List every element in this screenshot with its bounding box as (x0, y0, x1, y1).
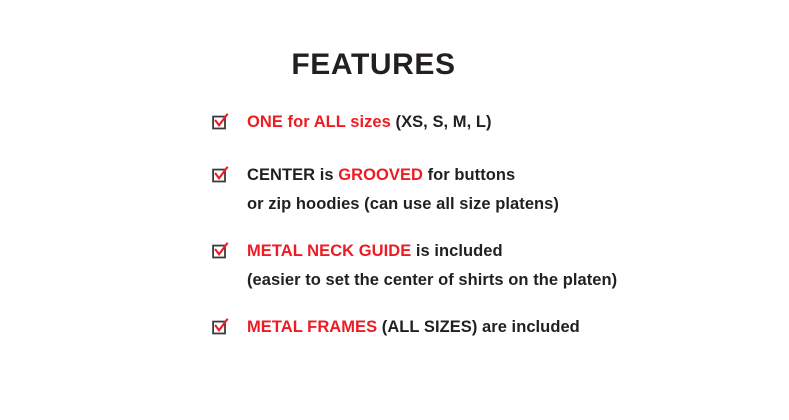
feature-text: CENTER is GROOVED for buttonsor zip hood… (247, 163, 770, 217)
feature-line: METAL NECK GUIDE is included (247, 239, 770, 264)
checked-checkbox-icon (212, 113, 229, 130)
checked-checkbox-icon (212, 166, 229, 183)
page-title: FEATURES (0, 50, 747, 80)
feature-bullet (210, 110, 247, 132)
feature-text-segment: (easier to set the center of shirts on t… (247, 271, 617, 289)
feature-item: METAL NECK GUIDE is included(easier to s… (210, 239, 770, 293)
feature-text-segment: METAL FRAMES (247, 318, 377, 336)
features-panel: FEATURES ONE for ALL sizes (XS, S, M, L)… (0, 0, 789, 420)
feature-line: (easier to set the center of shirts on t… (247, 268, 770, 293)
feature-bullet (210, 315, 247, 337)
feature-line: or zip hoodies (can use all size platens… (247, 192, 770, 217)
feature-line: ONE for ALL sizes (XS, S, M, L) (247, 110, 770, 135)
features-list: ONE for ALL sizes (XS, S, M, L)CENTER is… (210, 110, 770, 368)
feature-bullet (210, 239, 247, 261)
feature-text: METAL NECK GUIDE is included(easier to s… (247, 239, 770, 293)
feature-text-segment: or zip hoodies (can use all size platens… (247, 195, 559, 213)
feature-item: METAL FRAMES (ALL SIZES) are included (210, 315, 770, 340)
feature-text-segment: ONE for ALL sizes (247, 113, 391, 131)
checked-checkbox-icon (212, 318, 229, 335)
feature-item: ONE for ALL sizes (XS, S, M, L) (210, 110, 770, 135)
feature-text: METAL FRAMES (ALL SIZES) are included (247, 315, 770, 340)
feature-text-segment: for buttons (423, 166, 515, 184)
feature-text-segment: (ALL SIZES) are included (377, 318, 580, 336)
feature-line: METAL FRAMES (ALL SIZES) are included (247, 315, 770, 340)
feature-text-segment: is included (411, 242, 502, 260)
feature-text-segment: GROOVED (338, 166, 423, 184)
checked-checkbox-icon (212, 242, 229, 259)
feature-text-segment: METAL NECK GUIDE (247, 242, 411, 260)
feature-text-segment: CENTER is (247, 166, 338, 184)
feature-bullet (210, 163, 247, 185)
feature-text: ONE for ALL sizes (XS, S, M, L) (247, 110, 770, 135)
feature-item: CENTER is GROOVED for buttonsor zip hood… (210, 163, 770, 217)
feature-line: CENTER is GROOVED for buttons (247, 163, 770, 188)
feature-text-segment: (XS, S, M, L) (391, 113, 492, 131)
